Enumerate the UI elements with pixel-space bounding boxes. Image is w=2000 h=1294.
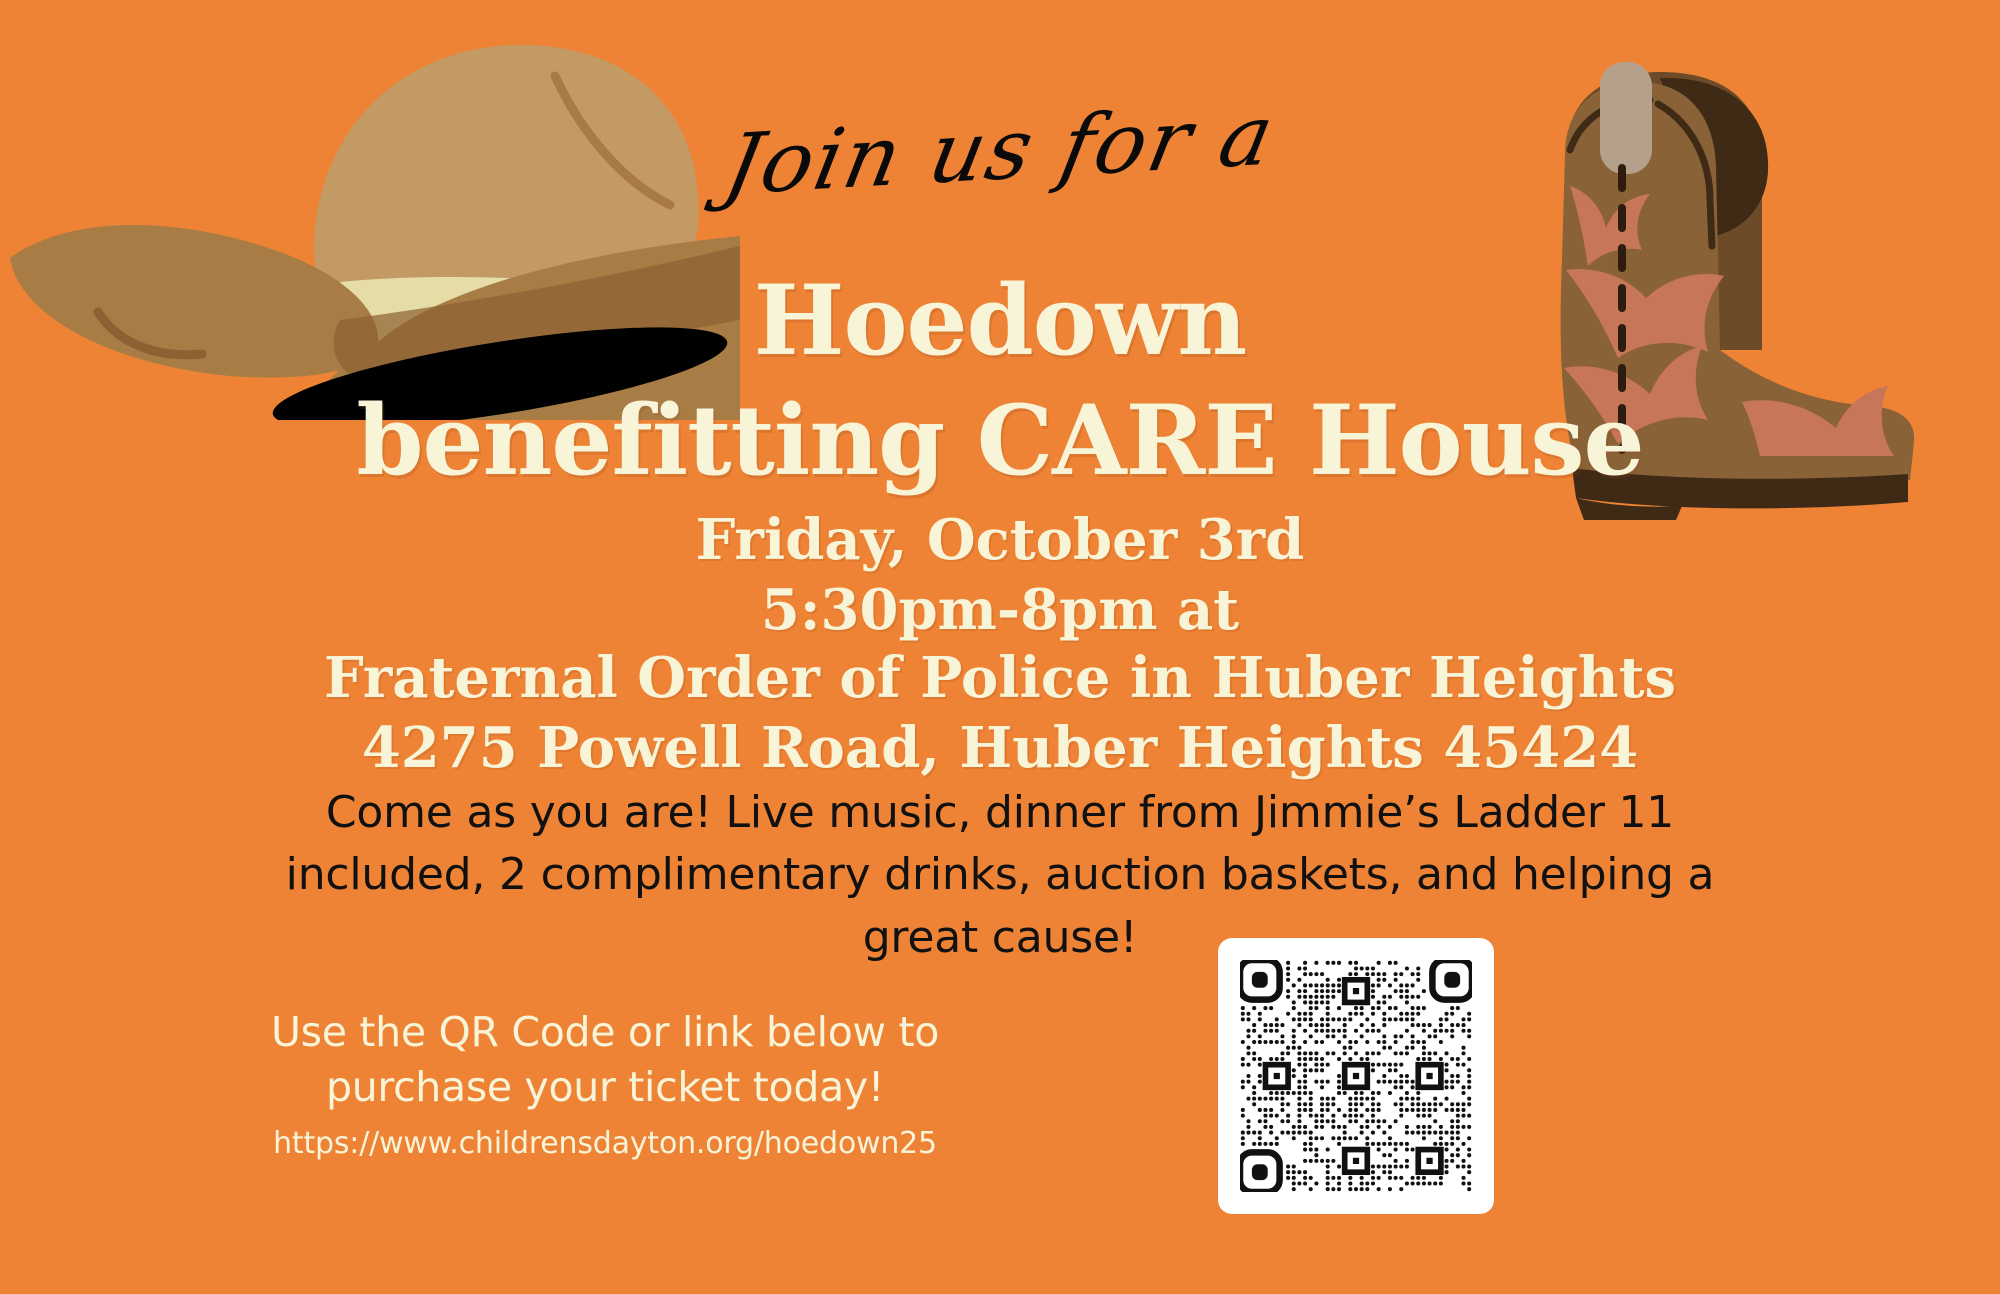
event-time: 5:30pm-8pm at (0, 582, 2000, 638)
script-intro-text: Join us for a (0, 52, 2000, 248)
qr-code-icon[interactable] (1240, 960, 1472, 1192)
event-date: Friday, October 3rd (0, 512, 2000, 568)
event-address: 4275 Powell Road, Huber Heights 45424 (0, 720, 2000, 776)
event-description: Come as you are! Live music, dinner from… (270, 782, 1730, 969)
cta-line-1: Use the QR Code or link below to (210, 1005, 1000, 1060)
boot-inlay-top (1570, 186, 1650, 266)
cta-line-2: purchase your ticket today! (210, 1060, 1000, 1115)
event-venue: Fraternal Order of Police in Huber Heigh… (0, 650, 2000, 706)
headline-line-2: benefitting CARE House (0, 392, 2000, 490)
hoedown-flyer: Join us for a Hoedown benefitting CARE H… (0, 0, 2000, 1294)
cta-block: Use the QR Code or link below to purchas… (210, 1005, 1000, 1161)
qr-code-card[interactable] (1218, 938, 1494, 1214)
ticket-url-link[interactable]: https://www.childrensdayton.org/hoedown2… (210, 1126, 1000, 1161)
headline-line-1: Hoedown (0, 272, 2000, 370)
